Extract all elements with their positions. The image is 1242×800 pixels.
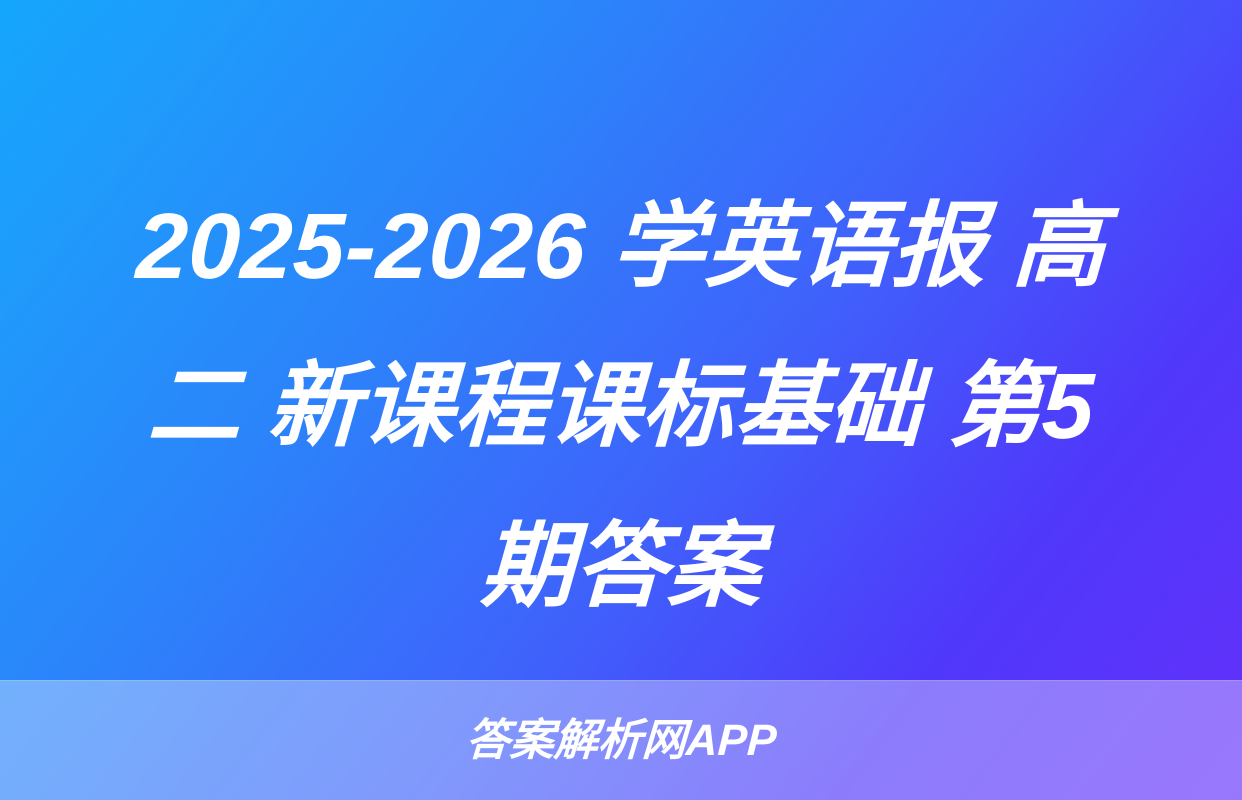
footer-brand-band: 答案解析网APP: [0, 680, 1242, 800]
headline-line-1: 2025-2026 学英语报 高: [31, 166, 1211, 326]
headline-line-2: 二 新课程课标基础 第5: [31, 326, 1211, 486]
footer-brand-label: 答案解析网APP: [465, 719, 778, 763]
answer-title-poster: 2025-2026 学英语报 高 二 新课程课标基础 第5 期答案 答案解析网A…: [0, 0, 1242, 800]
headline-line-3: 期答案: [31, 486, 1211, 646]
footer-divider: [0, 680, 1242, 681]
poster-headline: 2025-2026 学英语报 高 二 新课程课标基础 第5 期答案: [0, 166, 1242, 636]
